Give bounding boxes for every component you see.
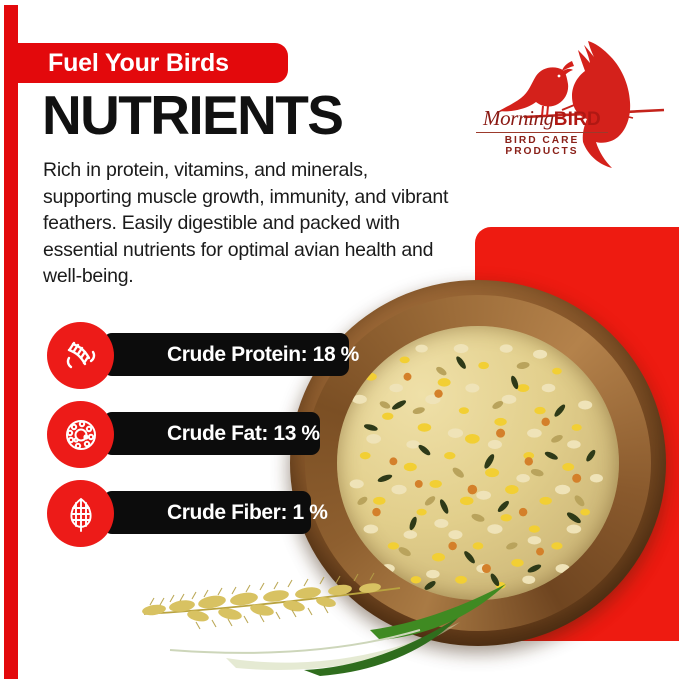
nutrient-pill-fat: Crude Fat: 13 % — [103, 412, 320, 455]
nutrient-label-fiber: Crude Fiber: 1 % — [103, 501, 345, 525]
protein-helix-icon — [47, 322, 114, 389]
logo-wordmark: MorningBIRD BIRD CARE PRODUCTS — [472, 106, 612, 157]
nutrient-pill-fiber: Crude Fiber: 1 % — [103, 491, 311, 534]
logo-tagline: BIRD CARE PRODUCTS — [472, 135, 612, 157]
fiber-grain-icon — [47, 480, 114, 547]
nutrient-label-protein: Crude Protein: 18 % — [103, 343, 377, 367]
fat-globule-icon — [47, 401, 114, 468]
nutrients-product-poster: Fuel Your Birds NUTRIENTS Rich in protei… — [0, 0, 679, 679]
logo-name-bold: BIRD — [554, 109, 601, 130]
brand-logo: MorningBIRD BIRD CARE PRODUCTS — [466, 22, 676, 172]
millet-spray-icon — [141, 573, 400, 629]
nutrient-pill-protein: Crude Protein: 18 % — [103, 333, 349, 376]
left-accent-bar — [4, 5, 18, 679]
logo-divider — [476, 132, 608, 133]
page-title: NUTRIENTS — [42, 88, 342, 143]
nutrient-label-fat: Crude Fat: 13 % — [103, 422, 338, 446]
eyebrow-label: Fuel Your Birds — [48, 49, 229, 78]
logo-name-script: Morning — [483, 106, 554, 130]
eyebrow-banner: Fuel Your Birds — [10, 43, 288, 83]
botanical-graphic — [108, 552, 538, 679]
millet-spray-and-leaves — [108, 552, 538, 679]
